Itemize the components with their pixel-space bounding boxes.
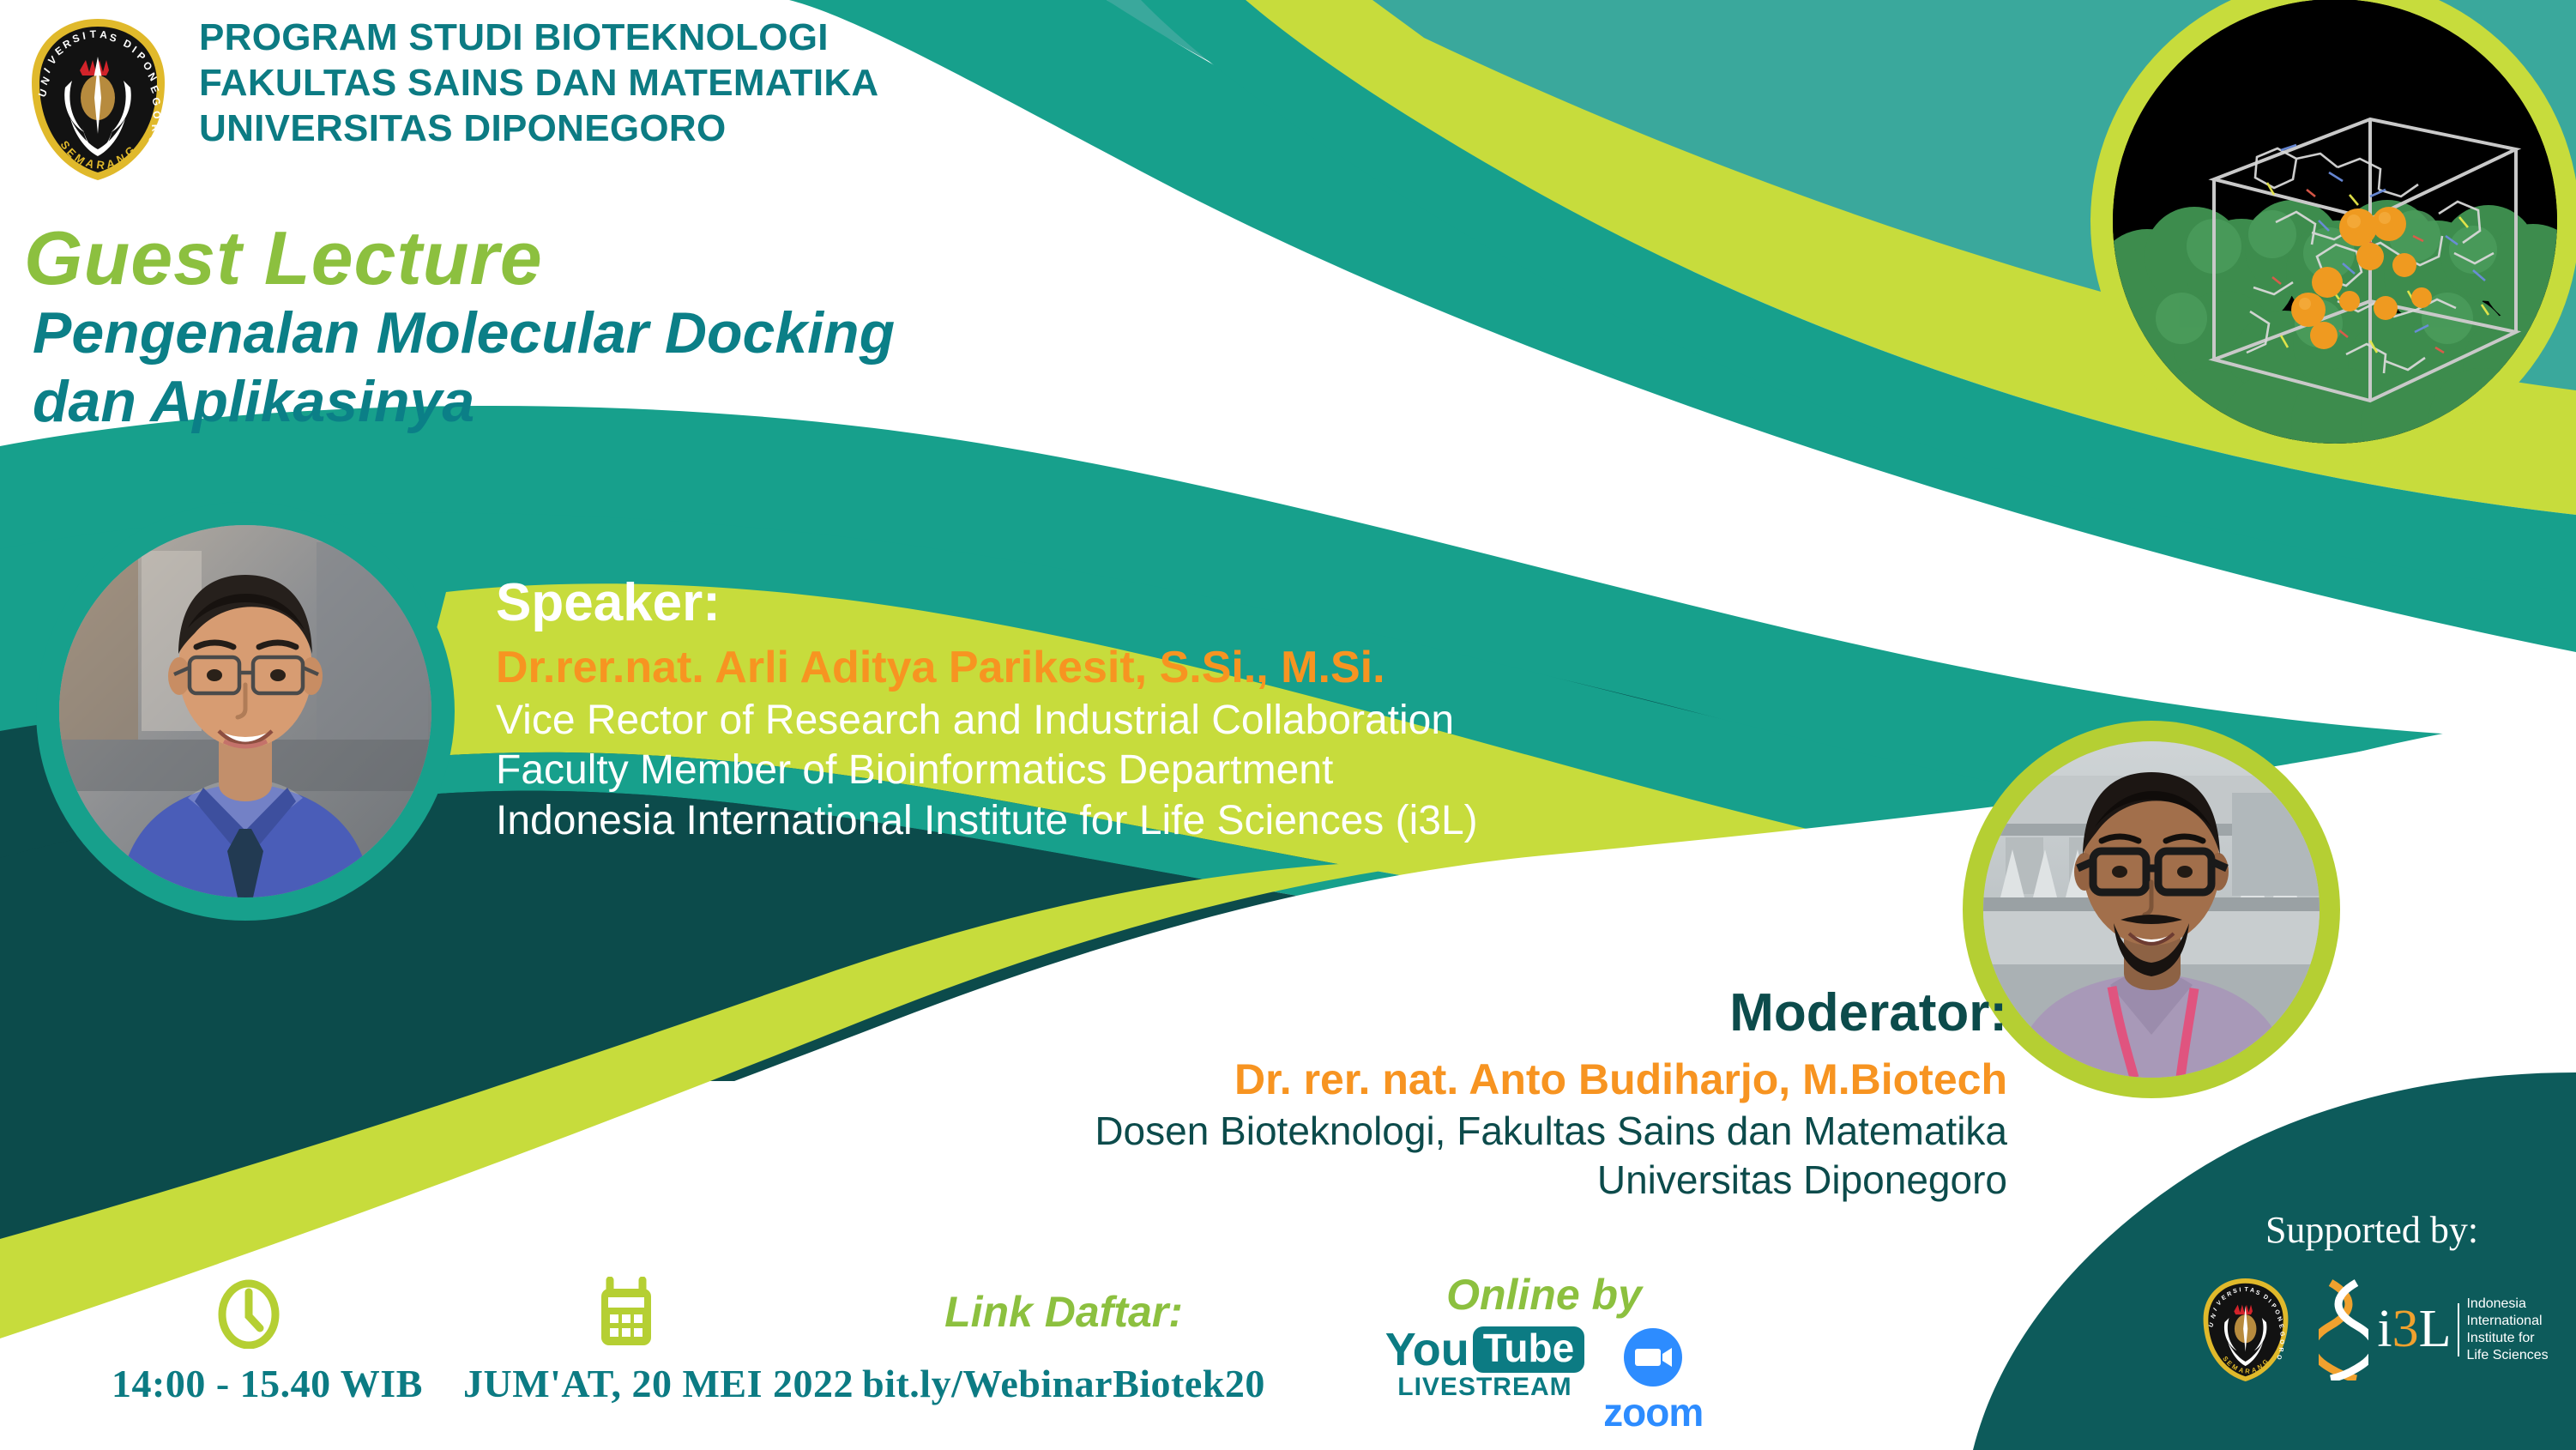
speaker-photo-icon [59, 525, 431, 897]
event-date-text: JUM'AT, 20 MEI 2022 [463, 1361, 789, 1406]
supported-by: Supported by: U N I V E R S I T A S D [2192, 1208, 2552, 1384]
speaker-avatar [36, 502, 455, 921]
moderator-portrait [1983, 741, 2320, 1078]
molecular-docking-image [2090, 0, 2576, 466]
speaker-name: Dr.rer.nat. Arli Aditya Parikesit, S.Si.… [496, 641, 1478, 695]
youtube-caption: LIVESTREAM [1385, 1373, 1584, 1402]
page-title-line-1: Pengenalan Molecular Docking [33, 299, 895, 367]
dna-helix-icon [2319, 1279, 2368, 1381]
svg-text:A: A [100, 28, 108, 41]
online-by-label: Online by [1372, 1268, 1716, 1321]
clock-icon [112, 1275, 386, 1349]
svg-text:R: R [149, 124, 161, 132]
online-platforms: Online by You Tube LIVESTREAM zoom [1372, 1268, 1716, 1432]
svg-text:O: O [146, 136, 159, 146]
moderator-name: Dr. rer. nat. Anto Budiharjo, M.Biotech [738, 1053, 2007, 1107]
page-title-line-2: dan Aplikasinya [33, 367, 895, 436]
speaker-label: Speaker: [496, 575, 1478, 631]
registration-link-url[interactable]: bit.ly/WebinarBiotek20 [849, 1361, 1278, 1406]
page-title: Pengenalan Molecular Docking dan Aplikas… [33, 299, 895, 436]
undip-shield-logo-footer: U N I V E R S I T A S D I P O N E [2195, 1276, 2296, 1384]
youtube-tube-box: Tube [1473, 1326, 1584, 1373]
zoom-logo[interactable]: zoom [1603, 1326, 1703, 1432]
zoom-camera-icon [1622, 1326, 1684, 1388]
moderator-affiliation-2: Universitas Diponegoro [738, 1156, 2007, 1205]
speaker-affiliation-3: Indonesia International Institute for Li… [496, 796, 1478, 847]
institution-line-1: PROGRAM STUDI BIOTEKNOLOGI [199, 15, 879, 61]
youtube-livestream-logo[interactable]: You Tube LIVESTREAM [1385, 1326, 1584, 1402]
i3l-divider [2458, 1303, 2459, 1356]
speaker-affiliation-1: Vice Rector of Research and Industrial C… [496, 696, 1478, 746]
speaker-portrait [59, 525, 431, 897]
i3l-subtitle: Indonesia International Institute for Li… [2466, 1296, 2548, 1364]
institution-header: PROGRAM STUDI BIOTEKNOLOGI FAKULTAS SAIN… [199, 15, 879, 151]
undip-shield-logo: U N I V E R S I T A S D I P O N E G O R … [19, 15, 178, 184]
speaker-affiliation-2: Faculty Member of Bioinformatics Departm… [496, 746, 1478, 796]
event-time-text: 14:00 - 15.40 WIB [112, 1361, 386, 1406]
institution-line-3: UNIVERSITAS DIPONEGORO [199, 106, 879, 152]
institution-line-2: FAKULTAS SAINS DAN MATEMATIKA [199, 61, 879, 106]
svg-text:O: O [150, 110, 163, 120]
speaker-info: Speaker: Dr.rer.nat. Arli Aditya Parikes… [496, 575, 1478, 846]
event-kicker: Guest Lecture [24, 214, 543, 302]
svg-text:T: T [89, 28, 97, 40]
i3l-dna-logo: i3L Indonesia International Institute fo… [2319, 1279, 2548, 1381]
svg-text:O: O [2276, 1354, 2283, 1360]
protein-surface-icon [2113, 0, 2557, 444]
event-time: 14:00 - 15.40 WIB [112, 1275, 386, 1406]
youtube-wordmark: You [1385, 1326, 1469, 1373]
poster-canvas: U N I V E R S I T A S D I P O N E G O R … [0, 0, 2576, 1450]
moderator-affiliation-1: Dosen Bioteknologi, Fakultas Sains dan M… [738, 1107, 2007, 1157]
i3l-mark: i3L [2377, 1306, 2451, 1354]
link-label: Link Daftar: [849, 1275, 1278, 1349]
svg-text:R: R [2277, 1347, 2283, 1351]
moderator-avatar [1963, 721, 2340, 1098]
moderator-info: Moderator: Dr. rer. nat. Anto Budiharjo,… [738, 985, 2007, 1205]
registration-link[interactable]: Link Daftar: bit.ly/WebinarBiotek20 [849, 1275, 1278, 1406]
moderator-photo-icon [1983, 741, 2320, 1078]
zoom-wordmark: zoom [1603, 1393, 1703, 1432]
moderator-label: Moderator: [738, 985, 2007, 1041]
calendar-icon [463, 1275, 789, 1349]
supported-by-label: Supported by: [2192, 1208, 2552, 1252]
event-date: JUM'AT, 20 MEI 2022 [463, 1275, 789, 1406]
molecule-render [2113, 0, 2557, 444]
